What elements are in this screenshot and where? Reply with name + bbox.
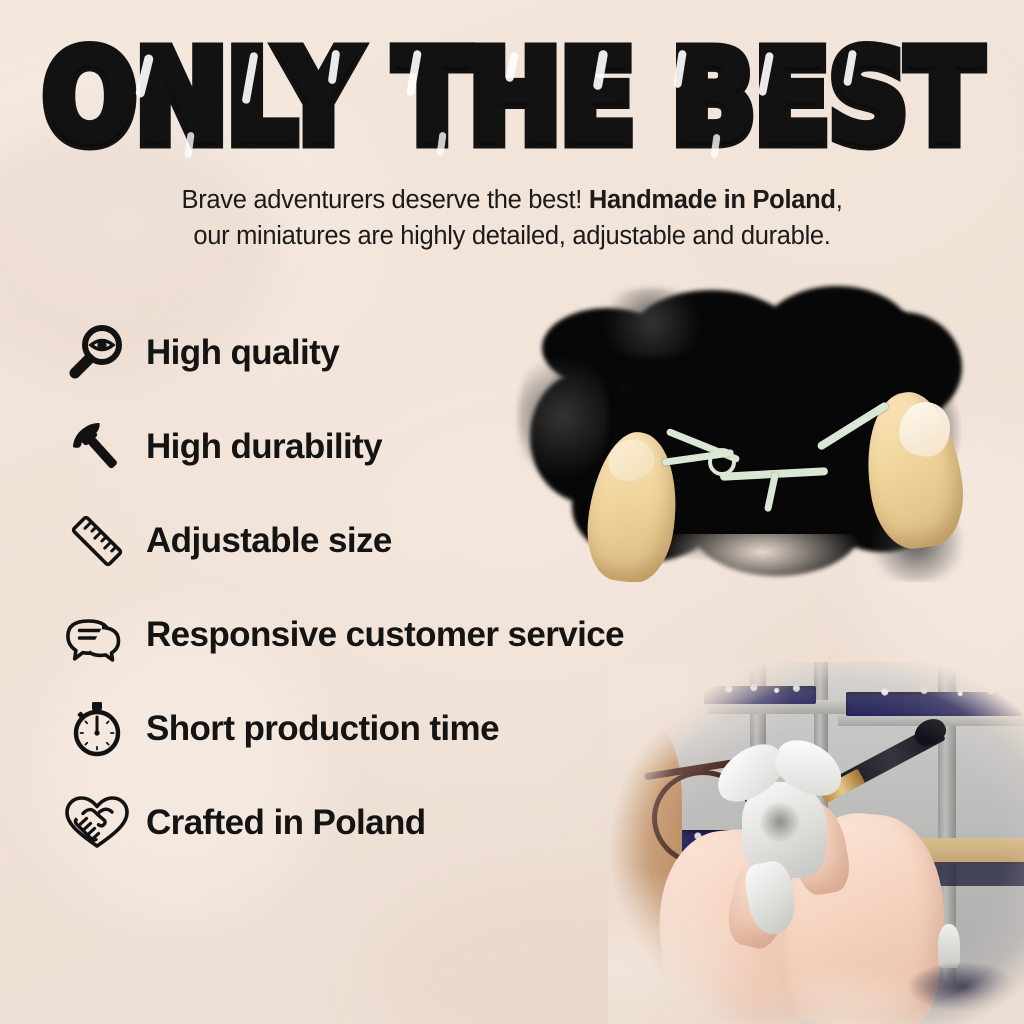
magnifier-eye-icon xyxy=(60,317,134,389)
feature-label: Responsive customer service xyxy=(146,615,624,655)
poster-root: ONLY THE BEST Brave adventurers deserve … xyxy=(0,0,1024,1024)
feature-item: High durability xyxy=(60,400,760,494)
subtitle-line1: Brave adventurers deserve the best! Hand… xyxy=(182,186,843,214)
subtitle-prefix: Brave adventurers deserve the best! xyxy=(182,186,589,214)
torn-paper-edge xyxy=(728,962,958,1024)
hammer-icon xyxy=(60,411,134,483)
feature-item: High quality xyxy=(60,306,760,400)
feature-label: Crafted in Poland xyxy=(146,803,426,843)
feature-item: Short production time xyxy=(60,682,760,776)
dragon-shadow-detail xyxy=(758,802,802,842)
subtitle-bold-handmade: Handmade in Poland xyxy=(589,186,836,214)
speech-bubbles-icon xyxy=(60,599,134,671)
title-container: ONLY THE BEST xyxy=(0,36,1024,144)
ruler-icon xyxy=(60,505,134,577)
heart-handshake-icon xyxy=(60,787,134,859)
feature-label: High quality xyxy=(146,333,339,373)
subtitle: Brave adventurers deserve the best! Hand… xyxy=(0,182,1024,254)
subtitle-suffix: , xyxy=(836,186,843,214)
subtitle-line2: our miniatures are highly detailed, adju… xyxy=(193,222,830,250)
page-title: ONLY THE BEST xyxy=(43,36,981,163)
feature-item: Responsive customer service xyxy=(60,588,760,682)
stopwatch-icon xyxy=(60,693,134,765)
feature-list: High quality High durability xyxy=(60,306,760,870)
feature-label: Short production time xyxy=(146,709,499,749)
feature-label: Adjustable size xyxy=(146,521,392,561)
feature-label: High durability xyxy=(146,427,382,467)
feature-item: Crafted in Poland xyxy=(60,776,760,870)
miniature-pieces xyxy=(852,684,1016,700)
feature-item: Adjustable size xyxy=(60,494,760,588)
